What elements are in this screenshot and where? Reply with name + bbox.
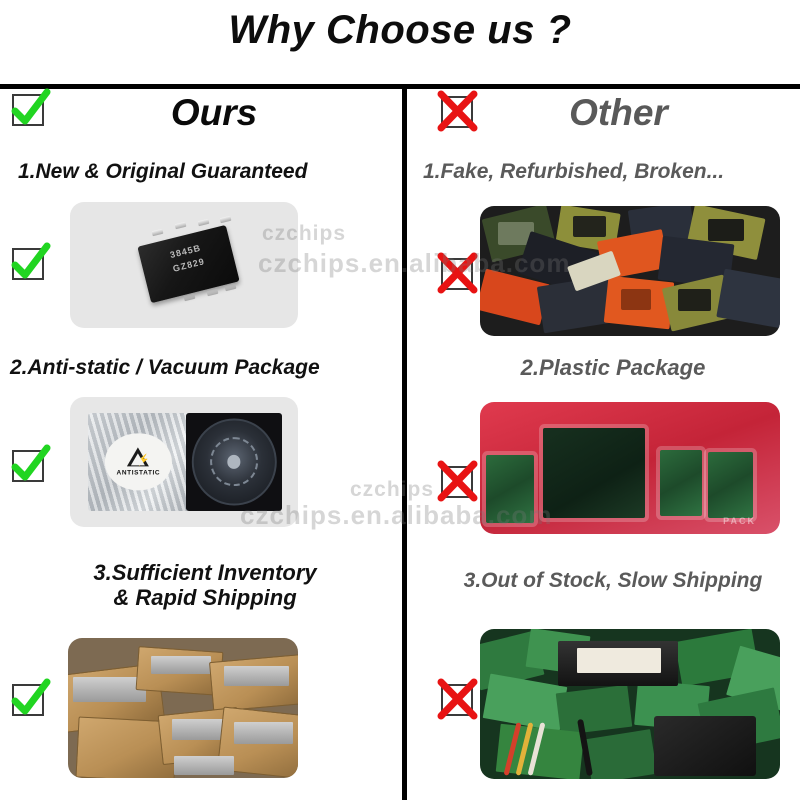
column-header-ours: Ours [0,94,402,131]
page-title: Why Choose us ? [0,8,800,53]
cross-mark-icon [437,462,477,502]
row-label-ours-3: 3.Sufficient Inventory & Rapid Shipping [40,561,370,610]
cross-mark-icon [437,92,477,132]
check-mark-icon [8,680,48,720]
scrap-cpu-pile-photo [480,206,780,336]
check-mark-icon [8,244,48,284]
cross-mark-icon [437,254,477,294]
scrap-pcb-pile-photo [480,629,780,779]
ic-chip-photo: 3845B GZ829 [70,202,298,328]
check-mark-icon [8,90,48,130]
row-label-other-2: 2.Plastic Package [423,356,800,381]
antistatic-warning-label: ⚡ ANTISTATIC [105,433,171,490]
row-label-other-1: 1.Fake, Refurbished, Broken... [423,160,800,184]
column-ours: Ours 1.New & Original Guaranteed [0,84,402,800]
column-other: Other 1.Fake, Refurbished, Broken... [407,84,800,800]
antistatic-caption: ANTISTATIC [117,469,161,476]
warehouse-boxes-photo [68,638,298,778]
row-label-ours-2: 2.Anti-static / Vacuum Package [10,356,396,380]
vacuum-tray [186,413,282,512]
cross-mark-icon [437,680,477,720]
check-mark-icon [8,446,48,486]
row-label-other-3: 3.Out of Stock, Slow Shipping [423,569,800,593]
static-warning-triangle-icon: ⚡ [127,447,149,466]
plastic-package-photo: PACK [480,402,780,534]
row-label-ours-1: 1.New & Original Guaranteed [18,160,394,184]
labeled-module [558,641,678,686]
comparison-infographic: Why Choose us ? Ours 1.New & Original Gu… [0,0,800,800]
plastic-pack-watermark: PACK [723,516,756,526]
antistatic-bag-photo: ⚡ ANTISTATIC [70,397,298,527]
